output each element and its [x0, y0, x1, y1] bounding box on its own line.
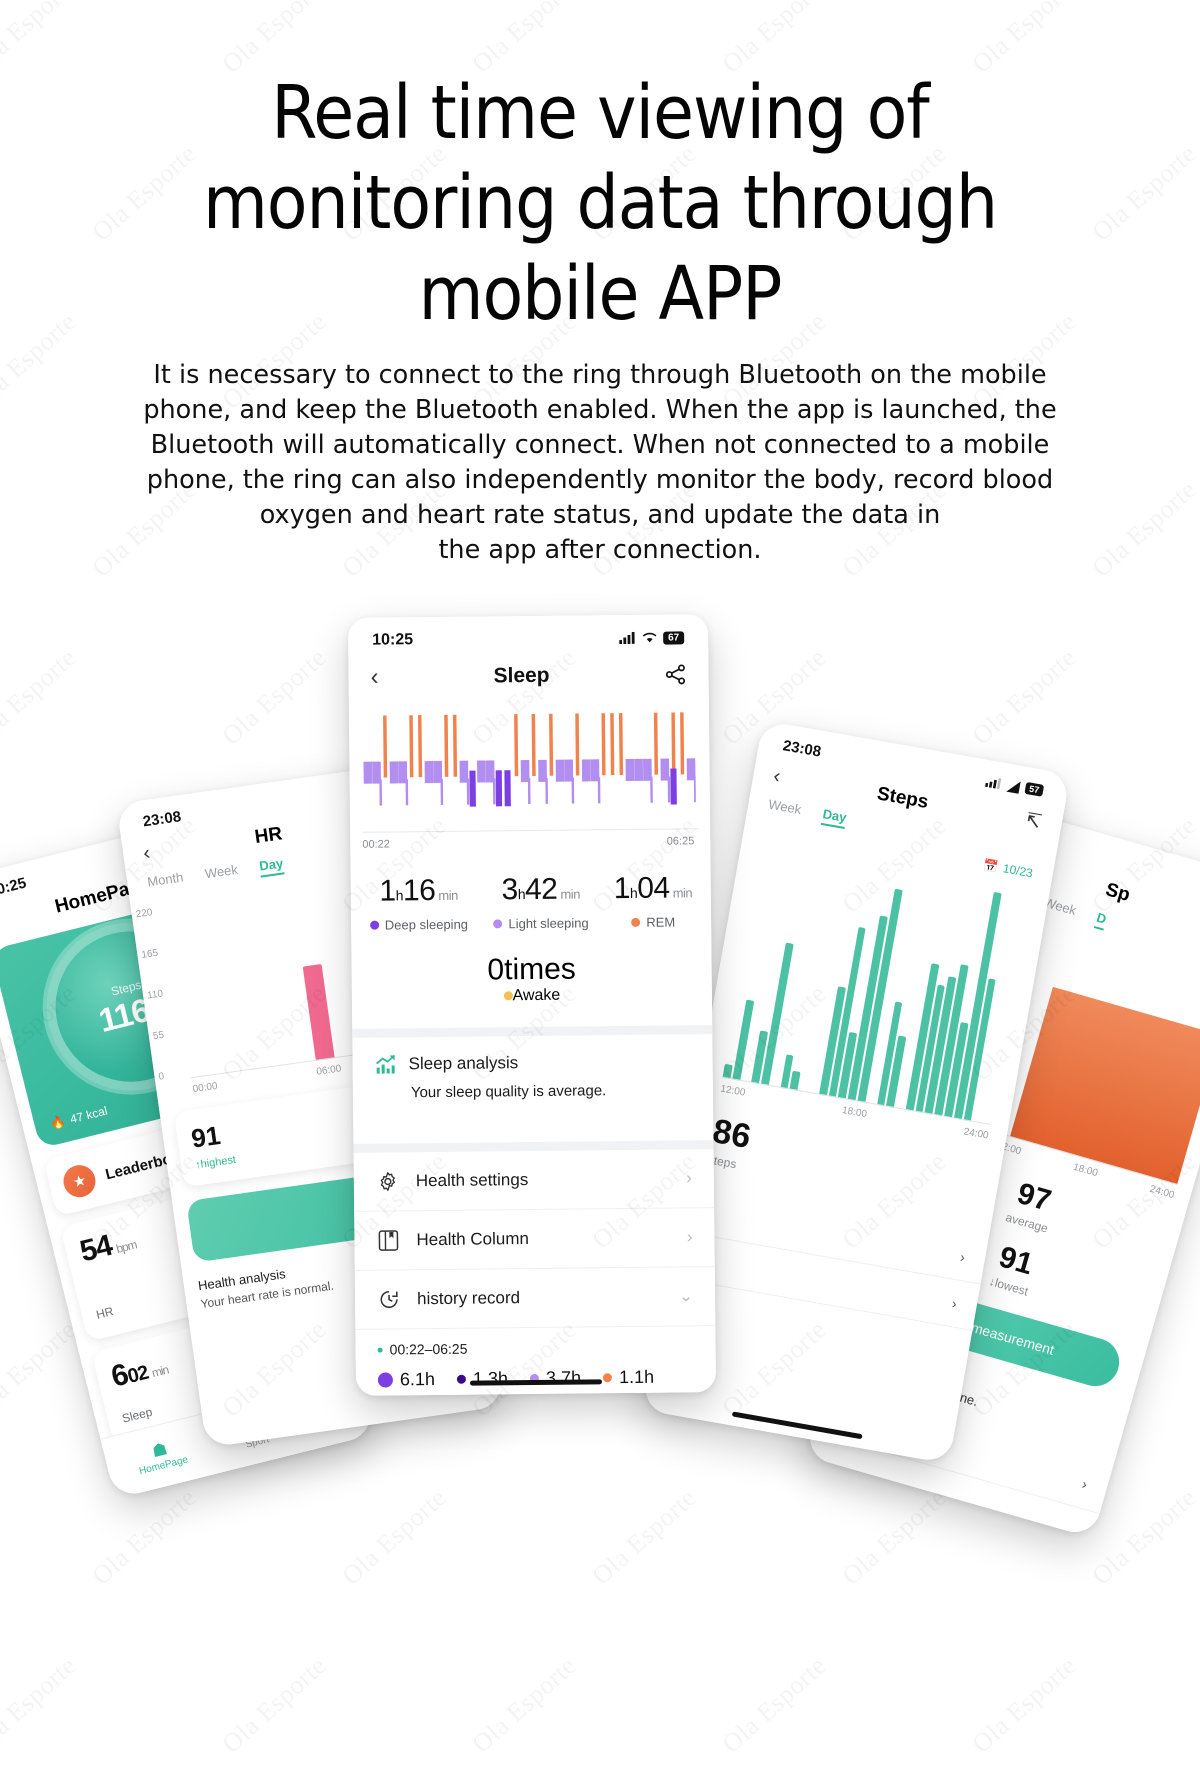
book-icon: [376, 1228, 400, 1252]
watermark-text: Ola Esporte: [587, 1483, 703, 1592]
history-total-text: 6.1h: [400, 1369, 435, 1390]
steps-chart: [722, 851, 1030, 1125]
history-light-text: 3.7h: [546, 1368, 581, 1389]
watermark-text: Ola Esporte: [337, 1483, 453, 1592]
medal-icon: ★: [60, 1162, 99, 1201]
history-dot-deep: [457, 1375, 466, 1384]
chevron-down-icon: ⌄: [679, 1286, 693, 1306]
sleep-minutes: 02: [125, 1362, 150, 1388]
hr-ytick-0: 220: [135, 907, 153, 920]
page-title: Real time viewing of monitoring data thr…: [0, 68, 1200, 339]
rem-legend: REM: [614, 914, 692, 930]
spo2-lowest: 91 ↓lowest: [987, 1239, 1039, 1298]
history-bullet: [378, 1347, 383, 1352]
row-health-column[interactable]: Health Column ›: [354, 1208, 715, 1271]
sleep-analysis-text: Your sleep quality is average.: [411, 1081, 691, 1101]
awake-unit: times: [504, 953, 576, 987]
wifi-icon: ◢: [1007, 776, 1021, 796]
share-icon[interactable]: ↸: [1023, 810, 1043, 833]
sleep-chart-baseline: [362, 828, 698, 833]
spo2-title: Sp: [1103, 879, 1132, 907]
product-feature-page: Real time viewing of monitoring data thr…: [0, 0, 1200, 1768]
row-label-health-settings: Health settings: [416, 1168, 687, 1191]
watermark-text: Ola Esporte: [0, 1651, 82, 1760]
watermark-text: Ola Esporte: [467, 1651, 583, 1760]
awake-legend: Awake: [352, 985, 712, 1007]
row-history-record[interactable]: history record ⌄: [355, 1267, 716, 1330]
hr-ytick-1: 165: [141, 948, 159, 961]
sleep-stage-stats: 1h16min Deep sleeping 3h42min Light slee…: [351, 871, 712, 933]
cellular-icon: [985, 776, 1003, 790]
sleep-navbar: ‹ Sleep: [348, 648, 708, 694]
deep-m-value: 16: [403, 874, 436, 907]
stat-light-sleeping: 3h42min Light sleeping: [493, 872, 589, 931]
chevron-right-icon: ›: [951, 1295, 958, 1312]
awake-value: 0: [487, 953, 504, 986]
headline-line-3: mobile APP: [0, 249, 1200, 339]
watermark-text: Ola Esporte: [967, 1651, 1083, 1760]
tab-homepage[interactable]: ☗ HomePage: [133, 1435, 189, 1477]
legend-dot-awake: [503, 991, 512, 1000]
watermark-text: Ola Esporte: [837, 1483, 953, 1592]
sleep-status-time: 10:25: [372, 631, 413, 649]
description-line-5: oxygen and heart rate status, and update…: [78, 498, 1122, 533]
history-clock-icon: [377, 1287, 401, 1311]
flame-icon: 🔥: [49, 1114, 67, 1131]
light-h-value: 3: [501, 873, 518, 906]
history-total: 6.1h: [378, 1369, 435, 1391]
hr-unit: bpm: [115, 1238, 138, 1257]
chevron-right-icon: ›: [687, 1227, 693, 1247]
battery-indicator: 67: [663, 631, 684, 644]
description-line-4: phone, the ring can also independently m…: [78, 463, 1122, 498]
calendar-icon: 📅: [982, 858, 999, 874]
battery-indicator: 57: [1024, 782, 1044, 797]
steps-tab-week[interactable]: Week: [767, 797, 803, 821]
hr-bar: [303, 964, 334, 1061]
rem-duration: 1h04min: [614, 871, 693, 906]
history-rem-text: 1.1h: [619, 1367, 654, 1388]
headline-line-1: Real time viewing of: [0, 68, 1200, 158]
watermark-text: Ola Esporte: [217, 1651, 333, 1760]
history-dot-rem: [603, 1373, 612, 1382]
watermark-text: Ola Esporte: [717, 1651, 833, 1760]
legend-dot-deep: [370, 921, 379, 930]
hr-ytick-4: 0: [158, 1070, 176, 1083]
sleep-analysis-title-row: Sleep analysis: [375, 1050, 691, 1075]
history-light: 3.7h: [530, 1368, 581, 1390]
watermark-text: Ola Esporte: [0, 643, 82, 752]
history-range-text: 00:22–06:25: [390, 1341, 468, 1358]
sleep-statusbar: 10:25 67: [348, 614, 708, 652]
light-sleep-legend: Light sleeping: [493, 915, 588, 931]
light-sleep-duration: 3h42min: [493, 872, 589, 907]
watermark-text: Ola Esporte: [87, 1483, 203, 1592]
description-line-1: It is necessary to connect to the ring t…: [78, 358, 1122, 393]
steps-bar: [732, 999, 754, 1081]
page-description: It is necessary to connect to the ring t…: [78, 358, 1122, 568]
history-rem: 1.1h: [603, 1367, 654, 1389]
rem-m-value: 04: [637, 872, 670, 905]
chevron-right-icon: ›: [1080, 1475, 1089, 1492]
legend-dot-light: [493, 919, 502, 928]
sleep-analysis-title: Sleep analysis: [409, 1053, 519, 1074]
history-deep-text: 1.3h: [473, 1368, 508, 1389]
hr-ytick-2: 110: [146, 988, 164, 1001]
back-chevron-icon[interactable]: ‹: [370, 666, 378, 690]
watermark-text: Ola Esporte: [967, 643, 1083, 752]
hr-number: 54: [77, 1229, 115, 1269]
hr-ytick-3: 55: [152, 1029, 170, 1042]
history-values: 6.1h 1.3h 3.7h 1.1h: [378, 1366, 694, 1390]
spo2-tab-day[interactable]: D: [1094, 910, 1108, 931]
sleep-stage-chart: [363, 706, 696, 827]
stat-awake: 0times Awake: [351, 951, 712, 1007]
spo2-xtick-3: 24:00: [1148, 1184, 1175, 1201]
sleep-analysis-section[interactable]: Sleep analysis Your sleep quality is ave…: [352, 1034, 713, 1122]
sleep-chart-svg: [363, 706, 696, 827]
stat-rem: 1h04min REM: [614, 871, 693, 930]
legend-dot-rem: [631, 918, 640, 927]
history-entry[interactable]: 00:22–06:25 6.1h 1.3h 3.7h 1.1h: [355, 1326, 716, 1396]
row-label-health-column: Health Column: [416, 1227, 687, 1250]
sleep-axis-start: 00:22: [362, 838, 390, 850]
deep-h-value: 1: [379, 874, 396, 907]
wifi-icon: [642, 632, 657, 644]
row-health-settings[interactable]: Health settings ›: [354, 1149, 715, 1212]
watermark-text: Ola Esporte: [217, 643, 333, 752]
hr-tab-month[interactable]: Month: [146, 870, 184, 894]
back-chevron-icon[interactable]: ‹: [772, 766, 782, 787]
spo2-xtick-2: 18:00: [1072, 1162, 1099, 1179]
steps-title: Steps: [875, 783, 930, 814]
home-indicator: [732, 1411, 863, 1439]
history-range: 00:22–06:25: [378, 1338, 694, 1357]
hr-xtick-0: 00:00: [192, 1081, 218, 1095]
deep-sleep-legend: Deep sleeping: [370, 917, 468, 933]
spo2-average: 97 average: [1004, 1176, 1059, 1236]
hr-xtick-1: 06:00: [316, 1063, 342, 1077]
steps-tab-day[interactable]: Day: [821, 806, 848, 829]
deep-sleep-duration: 1h16min: [369, 874, 467, 909]
awake-label: Awake: [512, 987, 560, 1004]
steps-xtick-2: 24:00: [963, 1126, 990, 1141]
calories-readout: 🔥 47 kcal: [49, 1104, 109, 1132]
description-line-2: phone, and keep the Bluetooth enabled. W…: [78, 393, 1122, 428]
stat-deep-sleeping: 1h16min Deep sleeping: [369, 874, 468, 933]
cellular-icon: [619, 632, 636, 644]
rem-label: REM: [646, 914, 675, 929]
row-label-history-record: history record: [417, 1286, 679, 1309]
sleep-face-icon: [378, 1372, 393, 1387]
steps-total-value: 86: [710, 1112, 754, 1156]
gear-icon: [376, 1169, 400, 1193]
hr-tab-week[interactable]: Week: [204, 862, 239, 885]
hr-tab-day[interactable]: Day: [258, 855, 284, 877]
awake-count: 0times: [351, 951, 711, 989]
hr-status-time: 23:08: [142, 808, 182, 830]
share-icon[interactable]: [664, 663, 686, 685]
description-line-6: the app after connection.: [78, 533, 1122, 568]
description-line-3: Bluetooth will automatically connect. Wh…: [78, 428, 1122, 463]
light-m-unit: min: [560, 886, 580, 901]
rem-m-unit: min: [673, 885, 693, 900]
steps-xtick-1: 18:00: [841, 1105, 868, 1120]
hr-title: HR: [253, 823, 283, 849]
phone-sleep-screen: 10:25 67 ‹ Sleep: [348, 614, 716, 1396]
sleep-x-axis: 00:22 06:25: [362, 835, 694, 850]
light-sleep-label: Light sleeping: [508, 915, 588, 931]
sleep-title: Sleep: [493, 664, 549, 689]
chevron-right-icon: ›: [959, 1249, 966, 1266]
deep-sleep-label: Deep sleeping: [385, 917, 468, 933]
sleep-unit: min: [150, 1363, 169, 1381]
chart-trend-icon: [375, 1053, 397, 1075]
history-deep: 1.3h: [457, 1368, 508, 1390]
sleep-axis-end: 06:25: [667, 835, 695, 847]
back-chevron-icon[interactable]: ‹: [142, 843, 151, 864]
steps-xtick-0: 12:00: [720, 1084, 747, 1099]
light-m-value: 42: [525, 873, 558, 906]
calories-value: 47 kcal: [69, 1104, 109, 1127]
headline-line-2: monitoring data through: [0, 158, 1200, 248]
chevron-right-icon: ›: [686, 1168, 692, 1188]
watermark-text: Ola Esporte: [0, 1315, 82, 1424]
deep-m-unit: min: [438, 888, 458, 903]
rem-h-value: 1: [614, 872, 631, 905]
